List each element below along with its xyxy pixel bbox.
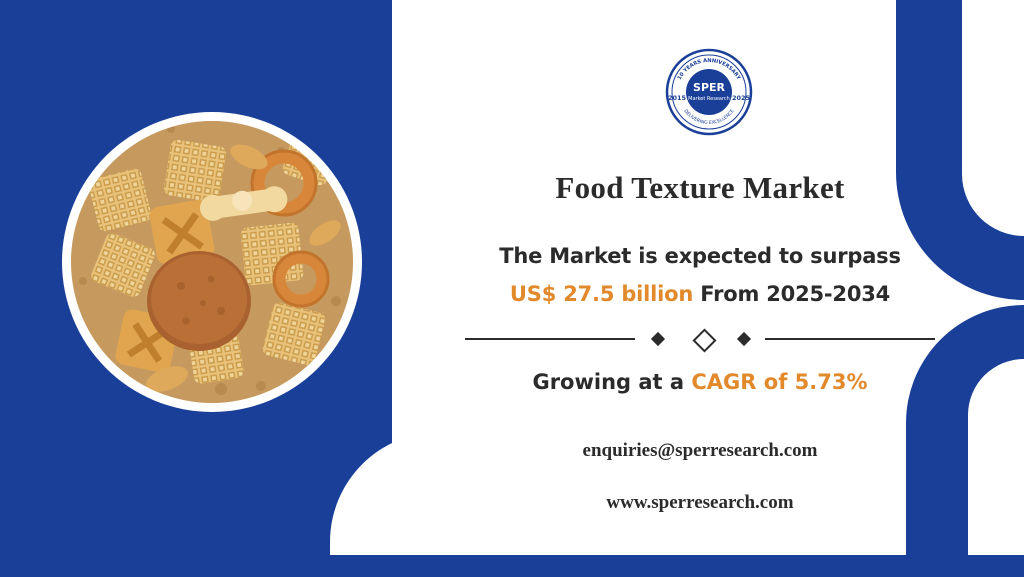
sper-logo: SPER Market Research 10 YEARS ANNIVERSAR… <box>665 48 753 136</box>
page-title: Food Texture Market <box>420 170 980 206</box>
svg-text:SPER: SPER <box>693 81 725 94</box>
market-statement-line1: The Market is expected to surpass <box>420 244 980 268</box>
cagr-prefix: Growing at a <box>532 370 691 394</box>
snack-mix-photo <box>71 121 353 403</box>
svg-text:2025: 2025 <box>732 94 751 102</box>
blue-bottom-bar <box>0 555 1024 577</box>
market-value: US$ 27.5 billion <box>510 282 693 306</box>
ornamental-divider <box>465 330 935 348</box>
divider-diamond-right <box>737 332 751 346</box>
divider-bar-left <box>465 338 635 340</box>
product-image-circle <box>62 112 362 412</box>
snack-mix-illustration <box>71 121 353 403</box>
contact-email[interactable]: enquiries@sperresearch.com <box>420 440 980 462</box>
market-period: From 2025-2034 <box>700 282 890 306</box>
market-statement-line2: US$ 27.5 billion From 2025-2034 <box>420 282 980 306</box>
contact-block: enquiries@sperresearch.com www.sperresea… <box>420 440 980 514</box>
poster-canvas: SPER Market Research 10 YEARS ANNIVERSAR… <box>0 0 1024 577</box>
svg-text:2015: 2015 <box>668 94 687 102</box>
divider-diamond-left <box>651 332 665 346</box>
divider-diamond-center <box>692 328 716 352</box>
cagr-value: CAGR of 5.73% <box>691 370 867 394</box>
contact-website[interactable]: www.sperresearch.com <box>420 492 980 514</box>
svg-text:Market Research: Market Research <box>688 96 730 102</box>
main-content: Food Texture Market The Market is expect… <box>420 170 980 394</box>
cagr-statement: Growing at a CAGR of 5.73% <box>420 370 980 394</box>
divider-bar-right <box>765 338 935 340</box>
